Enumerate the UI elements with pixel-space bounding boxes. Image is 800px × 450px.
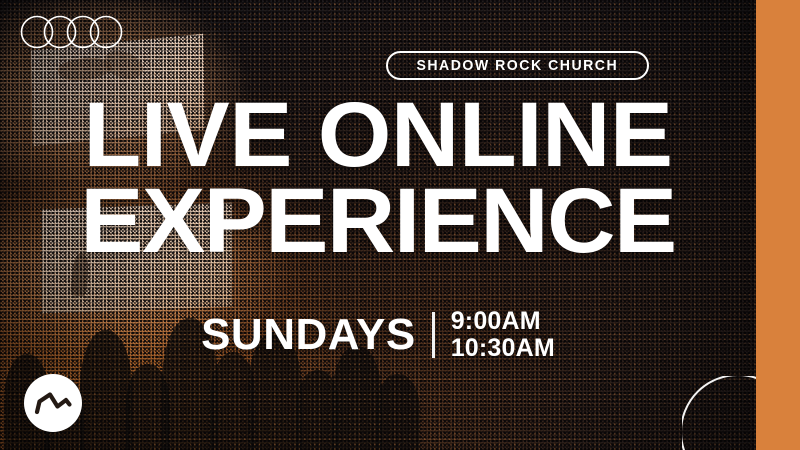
church-name-badge: SHADOW ROCK CHURCH bbox=[386, 51, 649, 80]
schedule-time-1: 9:00AM bbox=[451, 308, 555, 334]
schedule-divider bbox=[432, 312, 435, 358]
church-name-label: SHADOW ROCK CHURCH bbox=[416, 57, 618, 74]
poster-content: SHADOW ROCK CHURCH LIVE ONLINE EXPERIENC… bbox=[0, 0, 756, 450]
schedule-time-2: 10:30AM bbox=[451, 335, 555, 361]
schedule-block: SUNDAYS 9:00AM 10:30AM bbox=[0, 308, 756, 361]
headline-line-1: LIVE ONLINE bbox=[0, 92, 767, 178]
headline: LIVE ONLINE EXPERIENCE bbox=[0, 92, 756, 265]
schedule-day-label: SUNDAYS bbox=[201, 313, 416, 357]
schedule-times-list: 9:00AM 10:30AM bbox=[451, 308, 555, 361]
poster-canvas: SHADOW ROCK CHURCH LIVE ONLINE EXPERIENC… bbox=[0, 0, 800, 450]
headline-line-2: EXPERIENCE bbox=[0, 178, 767, 264]
